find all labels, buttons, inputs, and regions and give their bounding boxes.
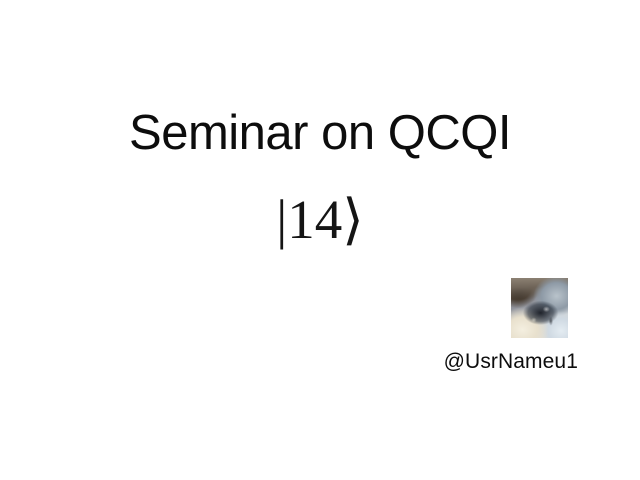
page-title: Seminar on QCQI xyxy=(0,108,640,159)
author-handle: @UsrNameu1 xyxy=(0,350,578,374)
title-slide: Seminar on QCQI |14⟩ @UsrNameu1 xyxy=(0,0,640,480)
avatar xyxy=(511,278,568,338)
avatar-photo-highlights xyxy=(511,278,568,338)
quantum-state-label: |14⟩ xyxy=(0,191,640,249)
